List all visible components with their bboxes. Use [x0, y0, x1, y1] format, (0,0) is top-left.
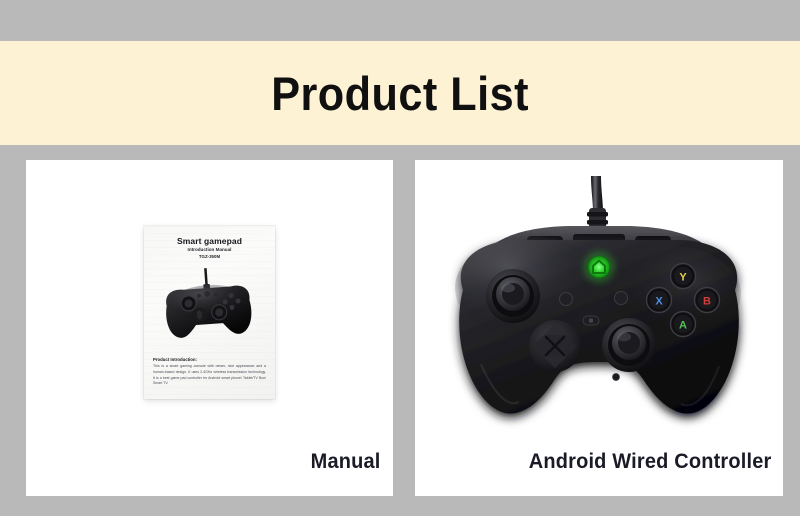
- face-button-a: A: [671, 312, 696, 337]
- home-button: [583, 251, 615, 283]
- top-background-strip: [0, 0, 800, 41]
- product-card-manual[interactable]: Smart gamepad Introduction Manual TGZ-35…: [26, 160, 393, 496]
- manual-intro-heading: Product Introduction:: [153, 357, 197, 362]
- manual-cover-title: Smart gamepad: [144, 236, 275, 246]
- right-thumbstick: [602, 318, 656, 372]
- left-thumbstick: [486, 269, 540, 323]
- svg-text:X: X: [655, 296, 663, 308]
- page-header-band: Product List: [0, 41, 800, 145]
- manual-cover-model: TGZ-350M: [144, 254, 275, 259]
- face-button-y: Y: [671, 264, 696, 289]
- share-button: [583, 316, 599, 325]
- face-button-x: X: [647, 288, 672, 313]
- product-card-row: Smart gamepad Introduction Manual TGZ-35…: [0, 160, 800, 496]
- product-card-controller[interactable]: Y X B A: [415, 160, 783, 496]
- dpad: [529, 320, 581, 372]
- controller-illustration: Y X B A: [423, 168, 775, 458]
- manual-cover-subtitle: Introduction Manual: [144, 247, 275, 252]
- manual-cover-page: Smart gamepad Introduction Manual TGZ-35…: [144, 226, 275, 399]
- indicator-dot: [613, 374, 620, 381]
- face-button-b: B: [695, 288, 720, 313]
- manual-intro-body: This is a smart gaming console with newe…: [153, 364, 266, 387]
- product-label-controller: Android Wired Controller: [528, 450, 771, 474]
- svg-text:B: B: [703, 296, 711, 308]
- view-button: [560, 293, 573, 306]
- svg-text:Y: Y: [679, 272, 687, 284]
- svg-text:A: A: [679, 320, 687, 332]
- manual-cover-controller-illustration: [152, 264, 267, 349]
- bottom-background-strip: [0, 496, 800, 516]
- product-label-manual: Manual: [311, 450, 381, 474]
- android-wired-controller-photo: Y X B A: [423, 168, 775, 458]
- menu-button: [615, 292, 628, 305]
- manual-booklet-photo: Smart gamepad Introduction Manual TGZ-35…: [26, 160, 393, 496]
- page-title: Product List: [271, 66, 529, 121]
